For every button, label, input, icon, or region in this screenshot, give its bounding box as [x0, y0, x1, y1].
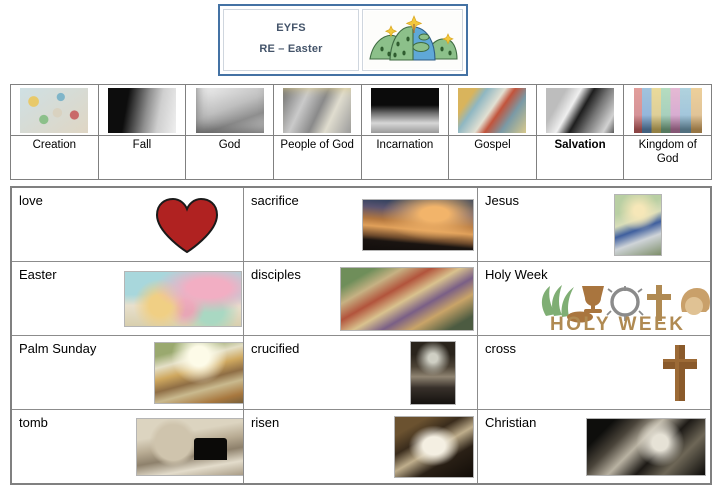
vocab-cell-disciples[interactable]: disciples: [244, 262, 478, 335]
unit-label: Fall: [99, 136, 186, 179]
tomb-stone-icon: [681, 288, 710, 315]
vocab-word: Jesus: [485, 193, 519, 208]
unit-thumb-wrap: [99, 85, 186, 136]
vocab-word: crucified: [251, 341, 299, 356]
jesus-good-shepherd-picture: [614, 194, 662, 256]
unit-label: Incarnation: [362, 136, 449, 179]
vocab-word: disciples: [251, 267, 301, 282]
vocab-cell-jesus[interactable]: Jesus: [478, 188, 710, 261]
vocab-cell-christian[interactable]: Christian: [478, 410, 710, 483]
wooden-cross-graphic: [656, 342, 704, 404]
table-row: Palm Sunday crucified cross: [12, 336, 710, 410]
people-of-god-thumbnail: [283, 88, 351, 133]
gospel-thumbnail: [458, 88, 526, 133]
vocab-cell-cross[interactable]: cross: [478, 336, 710, 409]
empty-tomb-photo: [136, 418, 244, 476]
vocab-word: cross: [485, 341, 516, 356]
vocab-word: love: [19, 193, 43, 208]
fall-thumbnail: [108, 88, 176, 133]
cross-carried-at-sunset-photo: [362, 199, 474, 251]
jesus-with-disciples-painting: [340, 267, 474, 331]
vocab-cell-palm-sunday[interactable]: Palm Sunday: [12, 336, 244, 409]
unit-cell-salvation[interactable]: Salvation: [537, 85, 625, 179]
incarnation-thumbnail: [371, 88, 439, 133]
vocab-cell-love[interactable]: love: [12, 188, 244, 261]
unit-thumb-wrap: [624, 85, 711, 136]
title-line-subject-topic: RE – Easter: [259, 43, 322, 55]
vocab-cell-crucified[interactable]: crucified: [244, 336, 478, 409]
title-line-year-group: EYFS: [276, 22, 306, 34]
salvation-thumbnail: [546, 88, 614, 133]
units-overview-table: Creation Fall God People of God Incarnat: [10, 84, 712, 180]
christian-worshippers-photo: [586, 418, 706, 476]
holy-week-wordmark: HOLY WEEK: [550, 314, 685, 332]
table-row: love sacrifice Jesus: [12, 188, 710, 262]
table-row: Easter disciples Holy Week: [12, 262, 710, 336]
hills-and-globe-illustration: [364, 11, 462, 69]
vocab-cell-sacrifice[interactable]: sacrifice: [244, 188, 478, 261]
unit-thumb-wrap: [449, 85, 536, 136]
unit-thumb-wrap: [186, 85, 273, 136]
unit-cell-incarnation[interactable]: Incarnation: [362, 85, 450, 179]
unit-cell-creation[interactable]: Creation: [11, 85, 99, 179]
unit-label: People of God: [274, 136, 361, 179]
vocab-word: sacrifice: [251, 193, 299, 208]
holy-week-logo: HOLY WEEK: [530, 278, 710, 332]
unit-thumb-wrap: [274, 85, 361, 136]
unit-label: Creation: [11, 136, 98, 179]
god-thumbnail: [196, 88, 264, 133]
title-artwork: [362, 9, 463, 71]
kingdom-of-god-thumbnail: [634, 88, 702, 133]
unit-cell-gospel[interactable]: Gospel: [449, 85, 537, 179]
vocab-cell-risen[interactable]: risen: [244, 410, 478, 483]
table-row: tomb risen Christian: [12, 410, 710, 483]
unit-cell-god[interactable]: God: [186, 85, 274, 179]
unit-cell-fall[interactable]: Fall: [99, 85, 187, 179]
unit-cell-kingdom-of-god[interactable]: Kingdom of God: [624, 85, 711, 179]
unit-thumb-wrap: [537, 85, 624, 136]
red-heart-graphic: [152, 196, 222, 256]
vocab-word: risen: [251, 415, 279, 430]
title-banner: EYFS RE – Easter: [218, 4, 468, 76]
easter-eggs-and-bunny-ears-photo: [124, 271, 242, 327]
vocab-word: Palm Sunday: [19, 341, 96, 356]
creation-thumbnail: [20, 88, 88, 133]
unit-cell-people-of-god[interactable]: People of God: [274, 85, 362, 179]
unit-label: Kingdom of God: [624, 136, 711, 179]
vocab-cell-holy-week[interactable]: Holy Week: [478, 262, 710, 335]
unit-label-current: Salvation: [537, 136, 624, 179]
vocab-cell-easter[interactable]: Easter: [12, 262, 244, 335]
unit-thumb-wrap: [362, 85, 449, 136]
vocab-word: Holy Week: [485, 267, 548, 282]
vocab-cell-tomb[interactable]: tomb: [12, 410, 244, 483]
vocab-word: tomb: [19, 415, 48, 430]
vocabulary-table: love sacrifice Jesus: [10, 186, 712, 485]
worksheet-page: EYFS RE – Easter: [0, 0, 720, 495]
crucifixion-painting: [410, 341, 456, 405]
crown-of-thorns-icon: [612, 289, 638, 315]
risen-jesus-picture: [394, 416, 474, 478]
unit-label: Gospel: [449, 136, 536, 179]
title-text-box: EYFS RE – Easter: [223, 9, 359, 71]
palm-branch-icon: [542, 285, 574, 317]
unit-label: God: [186, 136, 273, 179]
unit-thumb-wrap: [11, 85, 98, 136]
vocab-word: Easter: [19, 267, 57, 282]
entry-into-jerusalem-painting: [154, 342, 244, 404]
vocab-word: Christian: [485, 415, 536, 430]
